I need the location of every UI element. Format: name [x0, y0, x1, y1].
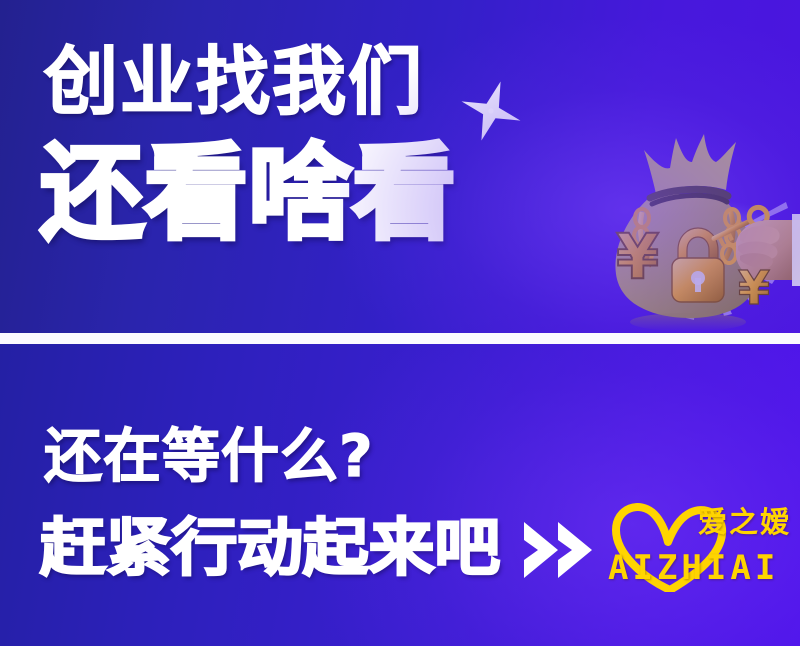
headline-secondary: 还看啥看 — [40, 137, 456, 249]
money-bag-graphic: ¥ — [590, 128, 800, 333]
double-chevron-right-icon — [524, 516, 602, 584]
four-point-sparkle-icon — [458, 78, 524, 144]
headline-cta: 赶紧行动起来吧 — [40, 513, 500, 583]
headline-question: 还在等什么? — [44, 424, 374, 488]
top-panel: 创业找我们 还看啥看 — [0, 0, 800, 333]
headline-primary: 创业找我们 — [44, 42, 424, 122]
section-divider — [0, 333, 800, 344]
svg-text:¥: ¥ — [616, 220, 659, 293]
promo-banner: 创业找我们 还看啥看 — [0, 0, 800, 646]
brand-name-chinese: 爱之嫒 — [698, 506, 791, 538]
svg-text:¥: ¥ — [738, 261, 770, 315]
brand-name-latin: AIZHIAI — [608, 549, 779, 587]
